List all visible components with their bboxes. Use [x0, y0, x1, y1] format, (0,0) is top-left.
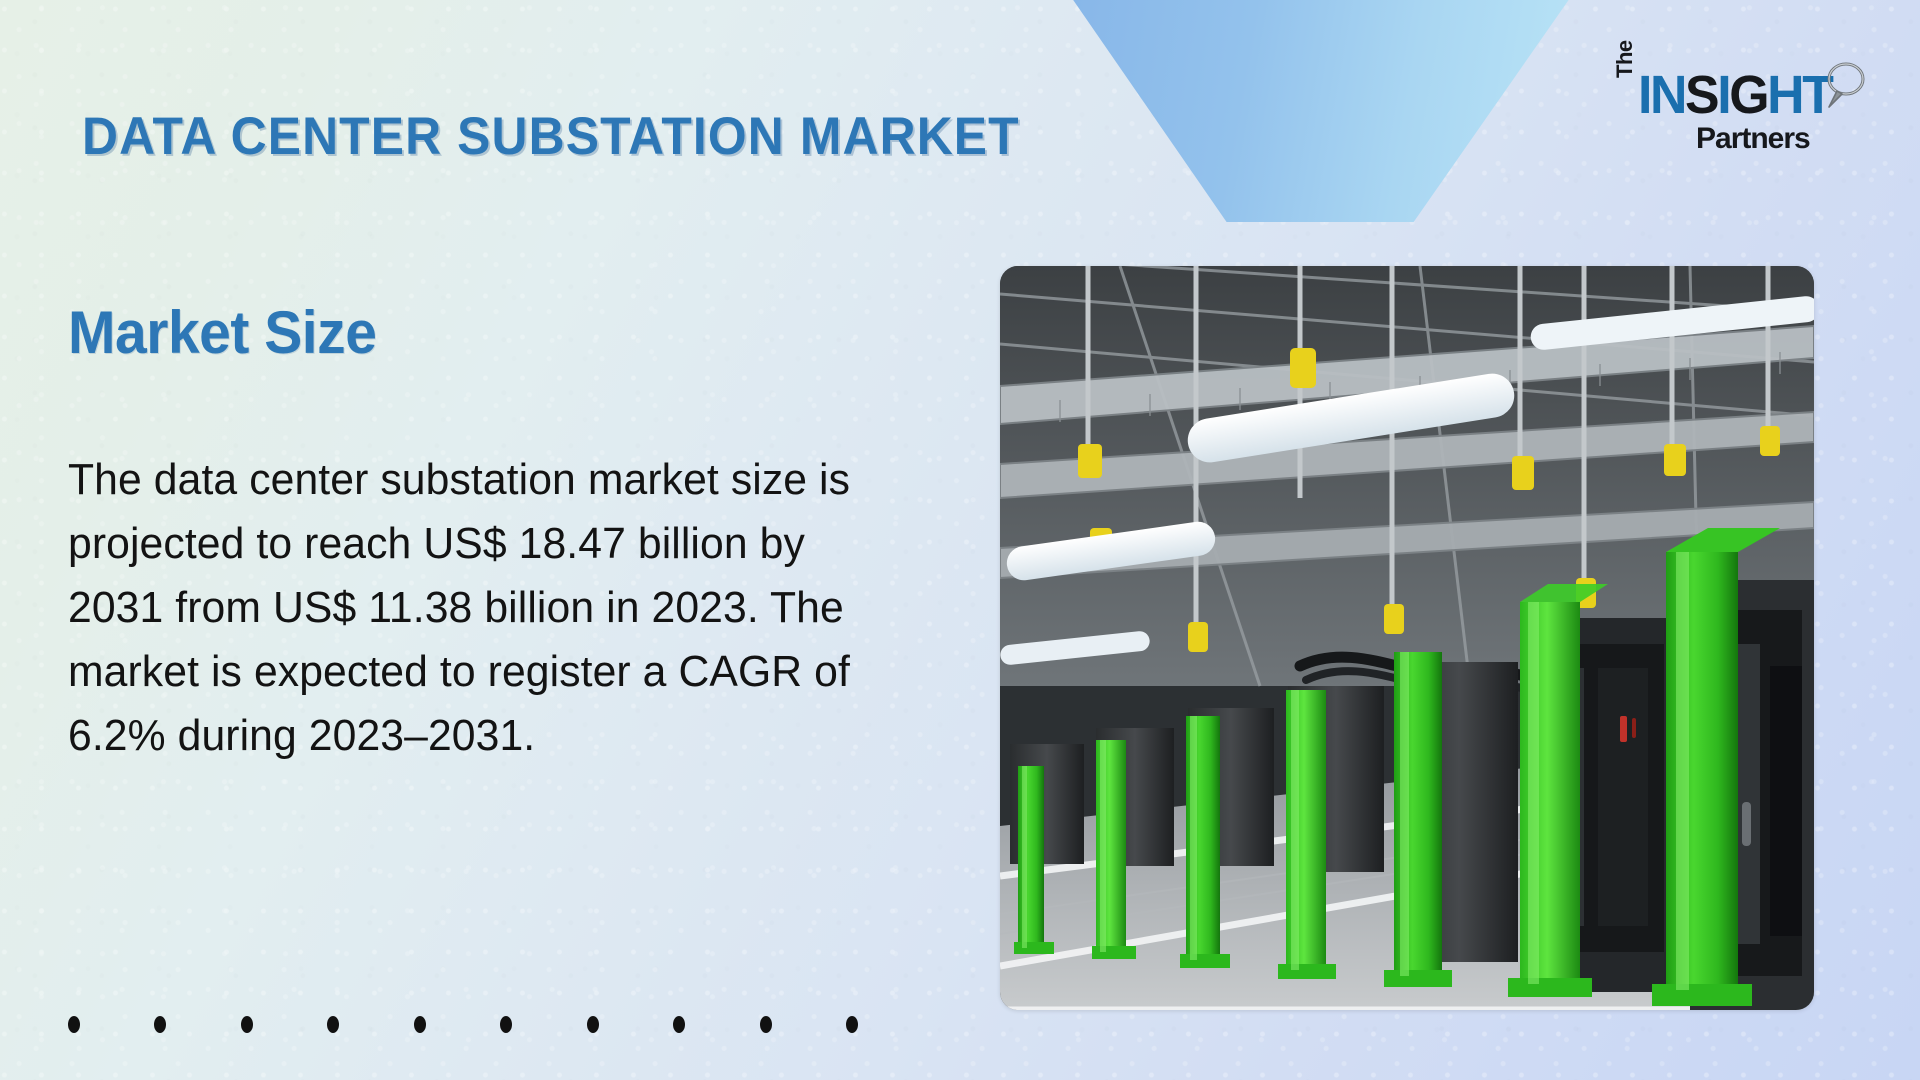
dot — [241, 1016, 253, 1033]
dot — [154, 1016, 166, 1033]
dot — [587, 1016, 599, 1033]
brand-logo[interactable]: The INSIGHT Partners — [1610, 58, 1872, 170]
logo-the-text: The — [1612, 40, 1638, 78]
body-paragraph: The data center substation market size i… — [68, 448, 883, 768]
dot — [760, 1016, 772, 1033]
dot — [68, 1016, 80, 1033]
speech-bubble-magnifier-icon — [1818, 60, 1868, 112]
trapezoid-accent-shape — [1040, 0, 1570, 222]
dot — [327, 1016, 339, 1033]
dot — [846, 1016, 858, 1033]
marketing-slide: DATA CENTER SUBSTATION MARKET The INSIGH… — [0, 0, 1920, 1080]
dot — [414, 1016, 426, 1033]
data-center-illustration — [1000, 266, 1814, 1010]
dot — [500, 1016, 512, 1033]
decorative-dot-row — [68, 1016, 858, 1033]
dot — [673, 1016, 685, 1033]
logo-insight-text: INSIGHT — [1638, 64, 1832, 126]
page-title: DATA CENTER SUBSTATION MARKET — [82, 106, 1020, 167]
data-center-photo — [1000, 266, 1814, 1010]
logo-partners-text: Partners — [1696, 122, 1810, 156]
section-subheading: Market Size — [68, 298, 376, 367]
